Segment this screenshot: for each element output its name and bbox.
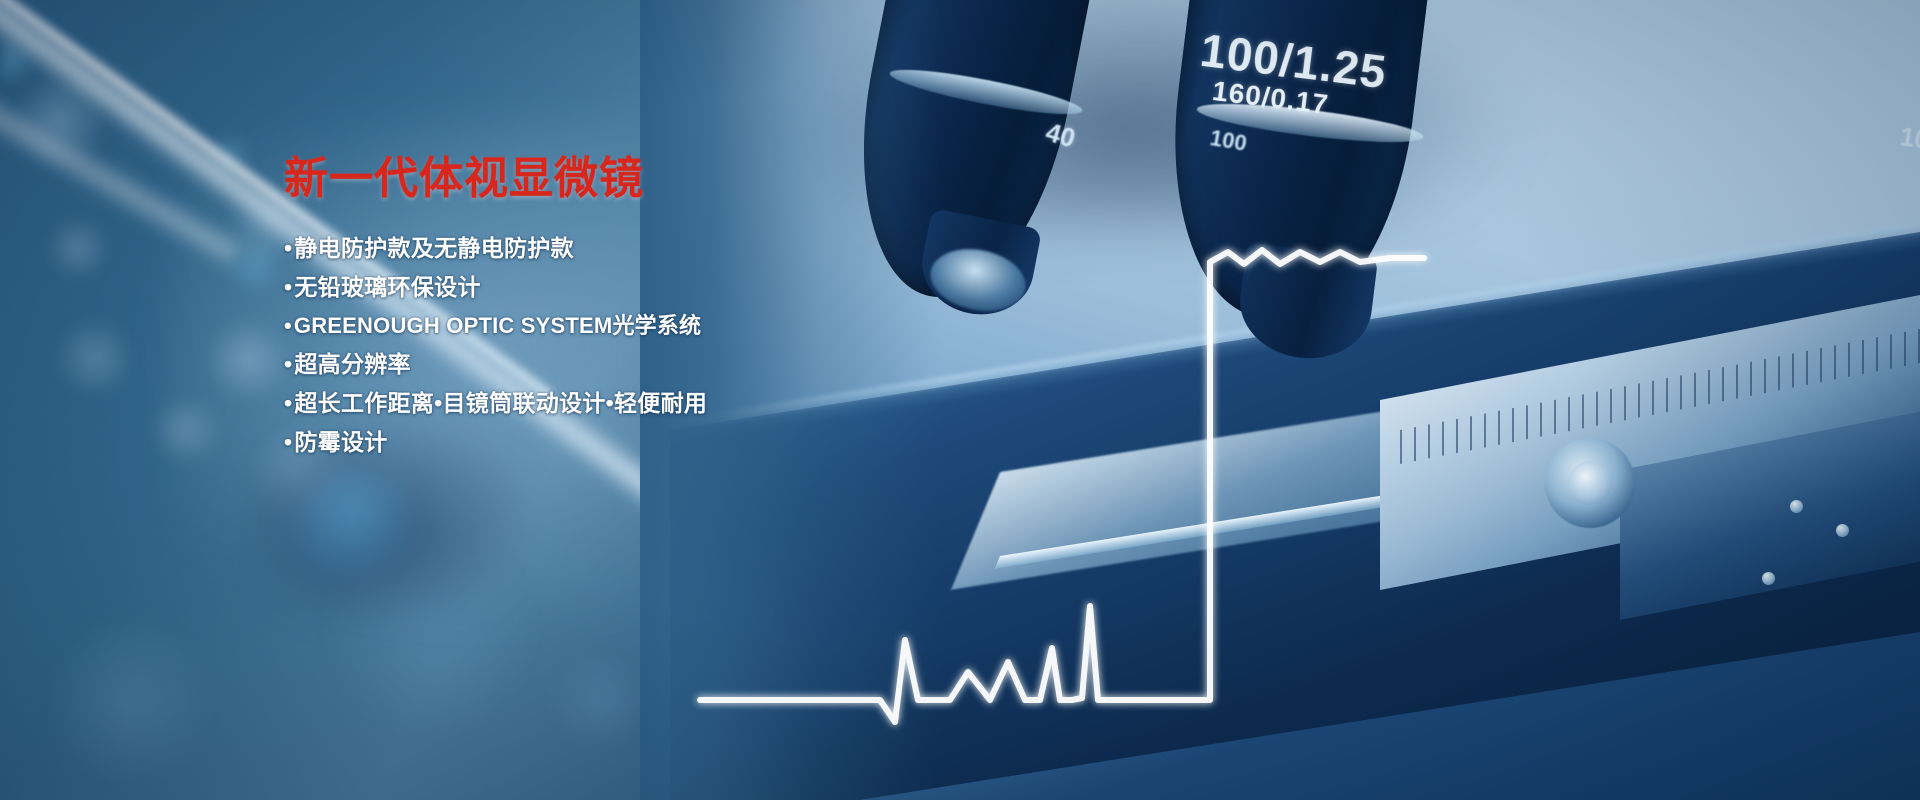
bullet-marker-icon: •: [284, 237, 292, 260]
bullet-marker-icon: •: [284, 353, 292, 376]
feature-label: GREENOUGH OPTIC SYSTEM光学系统: [294, 315, 701, 337]
list-item: • 超长工作距离•目镜筒联动设计•轻便耐用: [284, 392, 904, 415]
list-item: • GREENOUGH OPTIC SYSTEM光学系统: [284, 315, 904, 337]
feature-label: 超长工作距离•目镜筒联动设计•轻便耐用: [294, 392, 707, 415]
hero-banner: 100/1.25 160/0.17 40 100 100: [0, 0, 1920, 800]
feature-label: 防霉设计: [294, 431, 387, 454]
page-title: 新一代体视显微镜: [284, 155, 904, 203]
feature-label: 静电防护款及无静电防护款: [294, 237, 574, 260]
bullet-marker-icon: •: [284, 315, 292, 337]
list-item: • 静电防护款及无静电防护款: [284, 237, 904, 260]
list-item: • 防霉设计: [284, 431, 904, 454]
marketing-copy: 新一代体视显微镜 • 静电防护款及无静电防护款 • 无铅玻璃环保设计 • GRE…: [284, 155, 904, 470]
bullet-marker-icon: •: [284, 431, 292, 454]
feature-label: 无铅玻璃环保设计: [294, 276, 480, 299]
bullet-marker-icon: •: [284, 276, 292, 299]
list-item: • 超高分辨率: [284, 353, 904, 376]
feature-list: • 静电防护款及无静电防护款 • 无铅玻璃环保设计 • GREENOUGH OP…: [284, 237, 904, 454]
feature-label: 超高分辨率: [294, 353, 411, 376]
list-item: • 无铅玻璃环保设计: [284, 276, 904, 299]
bullet-marker-icon: •: [284, 392, 292, 415]
